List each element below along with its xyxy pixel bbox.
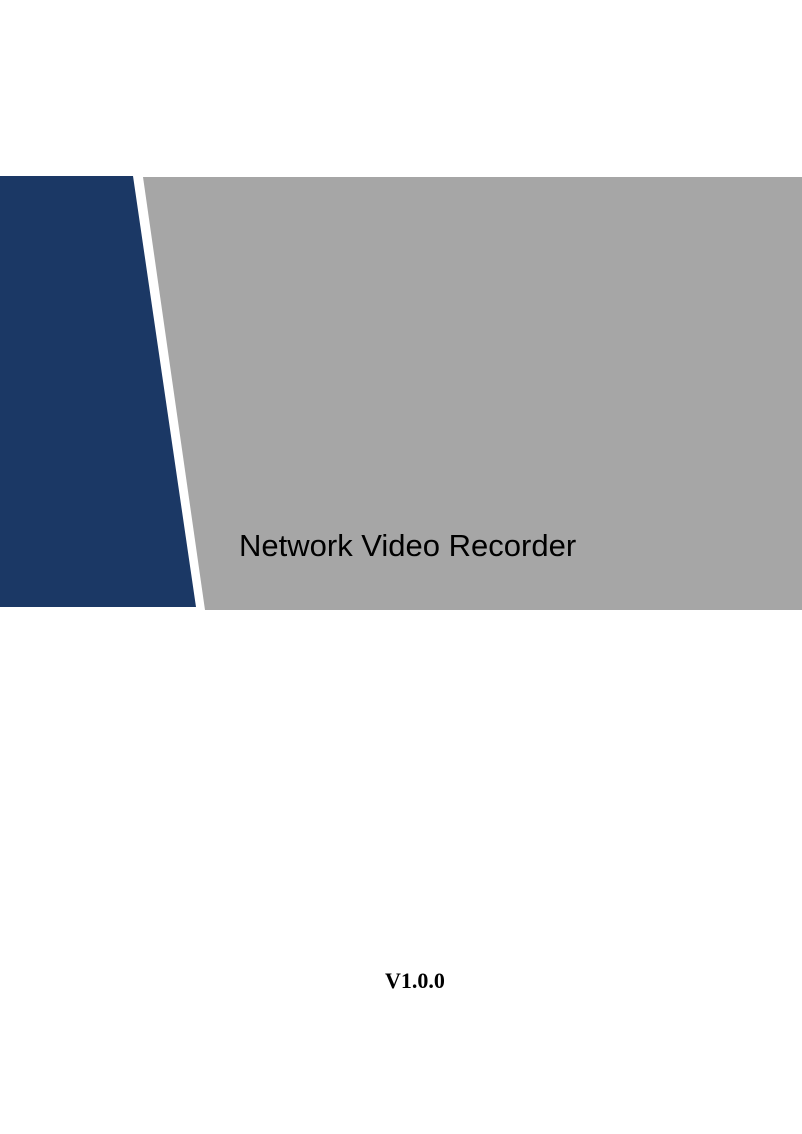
version-label: V1.0.0 <box>0 968 802 994</box>
version-text: V1.0.0 <box>385 968 445 994</box>
document-page: Network Video Recorder Quick Start Guide… <box>0 0 802 1134</box>
cover-banner: Network Video Recorder Quick Start Guide <box>0 176 802 610</box>
page-subtitle: Quick Start Guide <box>295 616 540 656</box>
page-title: Network Video Recorder <box>239 526 576 566</box>
